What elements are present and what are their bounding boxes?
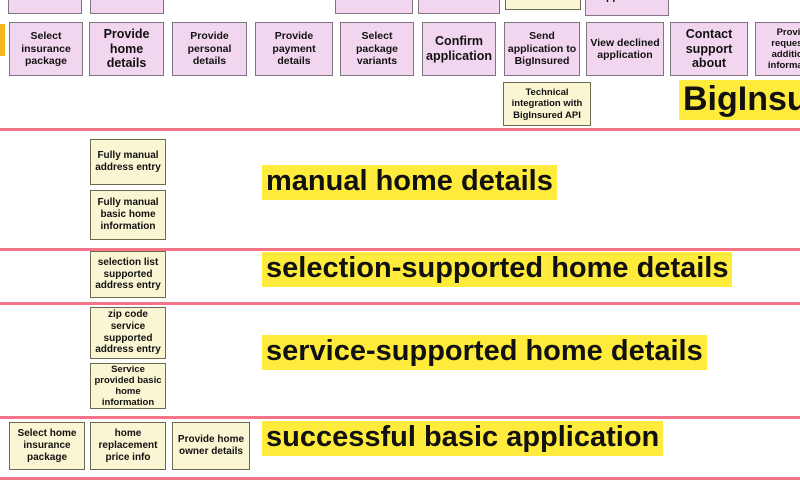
activity-card-confirm-application[interactable]: Confirm application [422,22,496,76]
lane-heading-successful-basic-application: successful basic application [262,421,663,456]
activity-card-contact-support-about[interactable]: Contact support about [670,22,748,76]
board-title: BigInsured [679,80,800,120]
release-card-home-replacement-price-info[interactable]: home replacement price info [90,422,166,470]
release-card-zip-code-service-supported-address-entry[interactable]: zip code service supported address entry [90,307,166,359]
release-card-label: Fully manual address entry [93,150,163,174]
activity-card-provide-home-details[interactable]: Provide home details [89,22,164,76]
lane-divider [0,416,800,419]
lane-heading-label: service-supported home details [266,335,703,367]
activity-card-send-application-to-biginsured[interactable]: Send application to BigInsured [504,22,580,76]
release-card-fully-manual-basic-home-information[interactable]: Fully manual basic home information [90,190,166,240]
top-clipped-card[interactable]: insurance [8,0,82,14]
lane-heading-manual-home-details: manual home details [262,165,557,200]
top-clipped-card[interactable]: data [90,0,164,14]
release-card-service-provided-basic-home-information[interactable]: Service provided basic home information [90,363,166,409]
top-clipped-card[interactable]: integration [505,0,581,10]
top-clipped-card-label: Application [588,0,666,3]
lane-divider [0,128,800,131]
activity-card-select-package-variants[interactable]: Select package variants [340,22,414,76]
release-card-label: Select home insurance package [12,428,82,463]
activity-card-view-declined-application[interactable]: View declined application [586,22,664,76]
top-clipped-card[interactable]: Application [418,0,500,14]
release-card-label: selection list supported address entry [93,257,163,292]
story-map-board: insurance data variant Application integ… [0,0,800,484]
release-card-select-home-insurance-package[interactable]: Select home insurance package [9,422,85,470]
release-card-provide-home-owner-details[interactable]: Provide home owner details [172,422,250,470]
activity-card-label: Contact support about [673,27,745,71]
top-clipped-card[interactable]: Application [585,0,669,16]
lane-heading-service-supported-home-details: service-supported home details [262,335,707,370]
activity-card-provide-payment-details[interactable]: Provide payment details [255,22,333,76]
lane-heading-label: manual home details [266,165,553,197]
activity-card-provide-requested-additional-information[interactable]: Provide requested additional information [755,22,800,76]
activity-card-label: Provide payment details [258,30,330,67]
activity-card-label: Provide personal details [175,30,244,67]
activity-card-label: Confirm application [425,34,493,64]
activity-card-label: View declined application [589,37,661,62]
activity-card-label: Select package variants [343,30,411,67]
release-card-label: Fully manual basic home information [93,197,163,232]
lane-heading-label: selection-supported home details [266,252,728,284]
release-card-fully-manual-address-entry[interactable]: Fully manual address entry [90,139,166,185]
activity-card-provide-personal-details[interactable]: Provide personal details [172,22,247,76]
lane-divider [0,302,800,305]
lane-divider [0,477,800,480]
lane-heading-selection-supported-home-details: selection-supported home details [262,252,732,287]
lane-heading-label: successful basic application [266,421,659,453]
release-card-label: home replacement price info [93,428,163,463]
lane-start-marker [0,24,5,56]
release-card-label: Provide home owner details [175,434,247,458]
activity-card-label: Provide requested additional information [758,27,800,72]
activity-card-label: Send application to BigInsured [507,30,577,67]
activity-card-label: Provide home details [92,27,161,71]
technical-integration-card[interactable]: Technical integration with BigInsured AP… [503,82,591,126]
release-card-label: Service provided basic home information [93,364,163,409]
top-clipped-card[interactable]: variant [335,0,413,14]
release-card-selection-list-supported-address-entry[interactable]: selection list supported address entry [90,251,166,298]
release-card-label: zip code service supported address entry [93,309,163,356]
board-title-label: BigInsured [683,80,800,118]
technical-integration-card-label: Technical integration with BigInsured AP… [506,87,588,121]
activity-card-select-insurance-package[interactable]: Select insurance package [9,22,83,76]
activity-card-label: Select insurance package [12,30,80,67]
